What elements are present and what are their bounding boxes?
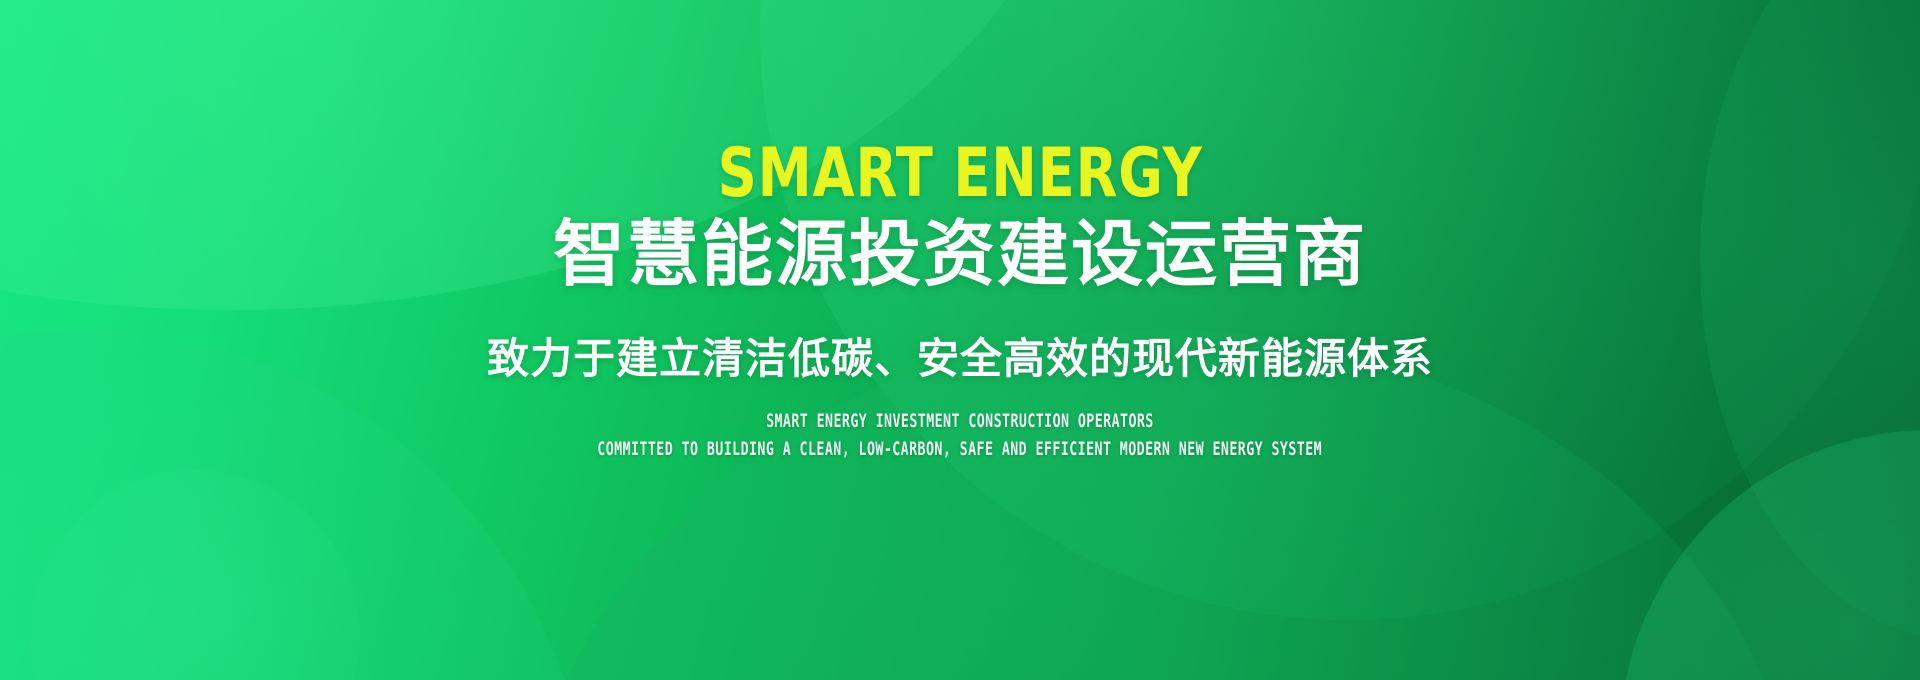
subheadline-english-line-2: COMMITTED TO BUILDING A CLEAN, LOW-CARBO… [598,440,1323,459]
hero-banner: SMART ENERGY 智慧能源投资建设运营商 致力于建立清洁低碳、安全高效的… [0,0,1920,680]
headline-english: SMART ENERGY [717,140,1202,208]
subheadline-chinese: 致力于建立清洁低碳、安全高效的现代新能源体系 [487,336,1433,382]
banner-content: SMART ENERGY 智慧能源投资建设运营商 致力于建立清洁低碳、安全高效的… [0,0,1920,680]
headline-chinese: 智慧能源投资建设运营商 [553,216,1367,294]
subheadline-english-line-1: SMART ENERGY INVESTMENT CONSTRUCTION OPE… [766,412,1154,431]
subheadline-english-group: SMART ENERGY INVESTMENT CONSTRUCTION OPE… [442,412,1477,459]
